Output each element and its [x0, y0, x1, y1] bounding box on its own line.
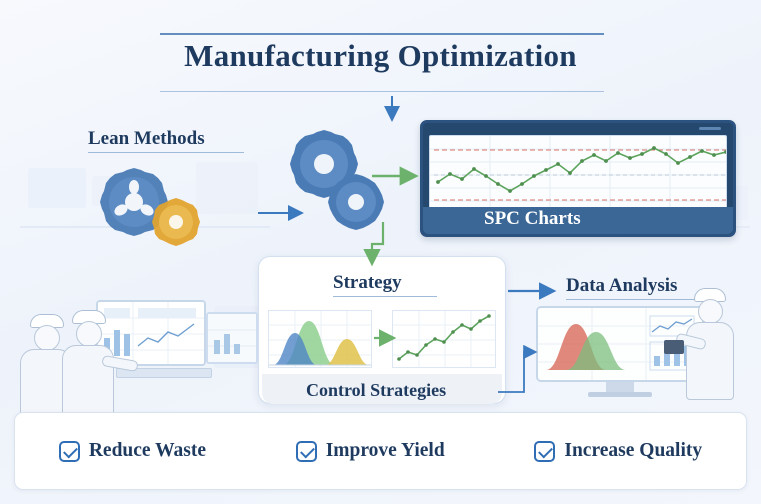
- worker-icon: [62, 310, 134, 426]
- strategy-trend-chart: [392, 310, 496, 368]
- label-lean-methods-text: Lean Methods: [88, 128, 205, 149]
- spc-chart: [429, 135, 727, 213]
- spc-series: [438, 148, 726, 191]
- footer-items: Reduce Waste Improve Yield Increase Qual…: [14, 412, 747, 490]
- footer-item-reduce-waste[interactable]: Reduce Waste: [59, 440, 206, 462]
- label-control-strategies: Control Strategies: [306, 380, 446, 401]
- check-square-icon: [59, 441, 80, 462]
- label-underline: [333, 296, 437, 297]
- worker-icon: [680, 288, 750, 414]
- footer-item-increase-quality[interactable]: Increase Quality: [534, 440, 702, 462]
- label-strategy: Strategy: [333, 272, 437, 297]
- title-divider-bottom: [160, 91, 604, 92]
- strategy-distribution-chart: [268, 310, 372, 368]
- footer-item-label: Reduce Waste: [89, 440, 206, 462]
- page-title: Manufacturing Optimization: [0, 38, 761, 74]
- footer-item-improve-yield[interactable]: Improve Yield: [296, 440, 445, 462]
- label-spc-charts: SPC Charts: [484, 208, 581, 230]
- label-underline: [88, 152, 244, 153]
- trend-series: [399, 316, 489, 359]
- check-square-icon: [296, 441, 317, 462]
- gear-cluster-lean: [96, 164, 206, 256]
- diagram-canvas: Manufacturing Optimization Lean Methods: [0, 0, 761, 504]
- label-control-strategies-text: Control Strategies: [306, 380, 446, 400]
- label-lean-methods: Lean Methods: [88, 128, 244, 153]
- footer-item-label: Improve Yield: [326, 440, 445, 462]
- label-data-analysis-text: Data Analysis: [566, 275, 677, 296]
- gear-cluster-middle: [286, 126, 394, 236]
- label-strategy-text: Strategy: [333, 272, 402, 293]
- gear-icon: [152, 198, 200, 246]
- workstation-secondary-display: [206, 312, 258, 364]
- label-spc-charts-text: SPC Charts: [484, 208, 581, 229]
- bg-decor-block: [28, 168, 86, 208]
- monitor-base: [588, 392, 652, 397]
- title-divider-top: [160, 33, 604, 35]
- footer-item-label: Increase Quality: [564, 440, 702, 462]
- check-square-icon: [534, 441, 555, 462]
- distribution-c: [325, 339, 369, 365]
- monitor-indicator: [699, 127, 721, 130]
- spc-data-points: [436, 146, 727, 193]
